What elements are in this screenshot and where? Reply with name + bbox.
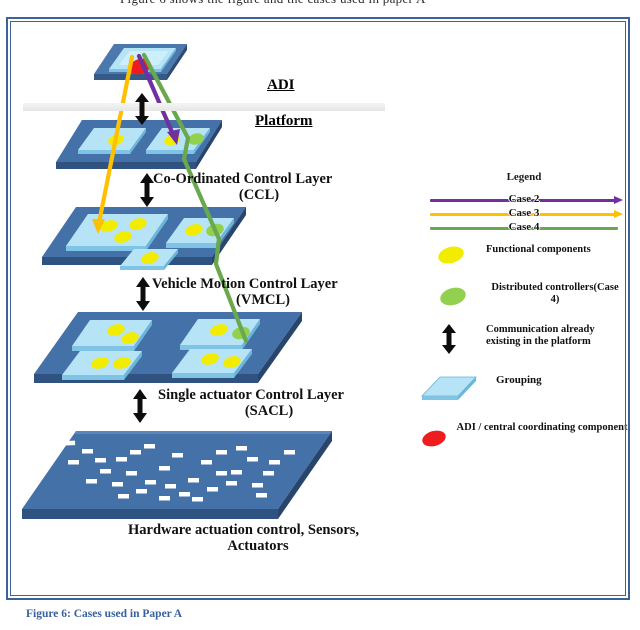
grouping-slab-icon	[418, 374, 480, 402]
layer-label-ccl-sub: (CCL)	[153, 187, 365, 203]
adi-slab	[88, 40, 193, 88]
legend-item-adi-component: ADI / central coordinating component	[418, 422, 630, 448]
layer-label-sacl-title: Single actuator Control Layer	[158, 387, 408, 403]
legend-item-distributed-controllers: Distributed controllers(Case 4)	[418, 282, 630, 308]
legend-symbol-communication	[418, 324, 484, 350]
layer-label-ccl-title: Co-Ordinated Control Layer	[153, 171, 393, 187]
legend-item-distributed-controllers-label: Distributed controllers(Case 4)	[486, 282, 624, 307]
legend-line-case2: Case 2	[418, 194, 630, 206]
legend-line-case3: Case 3	[418, 208, 630, 220]
figure-caption: Figure 6: Cases used in Paper A	[26, 608, 182, 620]
platform-separator-bar	[23, 103, 385, 111]
legend-item-grouping: Grouping	[418, 374, 630, 400]
legend-symbol-functional	[418, 244, 484, 270]
hardware-slab	[20, 427, 340, 525]
legend-line-case2-label: Case 2	[418, 193, 630, 205]
layer-label-ccl: Co-Ordinated Control Layer (CCL)	[153, 171, 393, 203]
legend: Legend Case 2 Case 3 Case 4	[418, 171, 630, 448]
double-arrow-icon	[440, 324, 458, 354]
legend-title: Legend	[418, 171, 630, 183]
legend-item-grouping-label: Grouping	[496, 374, 630, 387]
legend-item-functional-components-label: Functional components	[486, 244, 630, 256]
top-cut-text-strip: Figure 6 shows the figure and the cases …	[0, 0, 640, 14]
layer-label-vmcl-sub: (VMCL)	[152, 292, 374, 308]
legend-line-case3-label: Case 3	[418, 207, 630, 219]
layer-label-sacl: Single actuator Control Layer (SACL)	[158, 387, 408, 419]
yellow-ellipse-icon	[436, 244, 465, 267]
layer-label-hardware-title: Hardware actuation control, Sensors,	[128, 522, 418, 538]
top-cut-text: Figure 6 shows the figure and the cases …	[120, 0, 426, 7]
communication-arrow-ccl-vmcl	[133, 277, 153, 311]
legend-line-entries: Case 2 Case 3 Case 4	[418, 194, 630, 230]
legend-item-communication-label: Communication already existing in the pl…	[486, 324, 628, 349]
green-ellipse-icon	[438, 285, 468, 309]
legend-item-functional-components: Functional components	[418, 244, 630, 270]
communication-arrow-vmcl-sacl	[130, 389, 150, 423]
legend-symbol-grouping	[418, 374, 484, 400]
vmcl-slab	[30, 309, 310, 394]
layer-label-hardware: Hardware actuation control, Sensors, Act…	[128, 522, 418, 554]
legend-line-case4: Case 4	[418, 222, 630, 234]
layer-label-sacl-sub: (SACL)	[158, 403, 380, 419]
legend-symbol-adi	[418, 422, 484, 448]
ccl-slab	[34, 205, 254, 277]
figure-border-box: ADI Platform Co-Ordinated Control Layer …	[6, 17, 630, 600]
legend-line-case4-label: Case 4	[418, 221, 630, 233]
layer-label-vmcl-title: Vehicle Motion Control Layer	[152, 276, 402, 292]
legend-item-communication: Communication already existing in the pl…	[418, 324, 630, 350]
adi-banner-label: ADI	[267, 77, 295, 94]
figure-root: Figure 6 shows the figure and the cases …	[0, 0, 640, 630]
red-ellipse-icon	[420, 428, 447, 449]
platform-slab	[50, 118, 230, 178]
legend-symbol-distributed	[418, 282, 484, 308]
platform-banner-label: Platform	[255, 113, 312, 130]
communication-arrow-adi-platform	[132, 93, 152, 125]
layer-label-vmcl: Vehicle Motion Control Layer (VMCL)	[152, 276, 402, 308]
layer-label-hardware-sub: Actuators	[128, 538, 388, 554]
